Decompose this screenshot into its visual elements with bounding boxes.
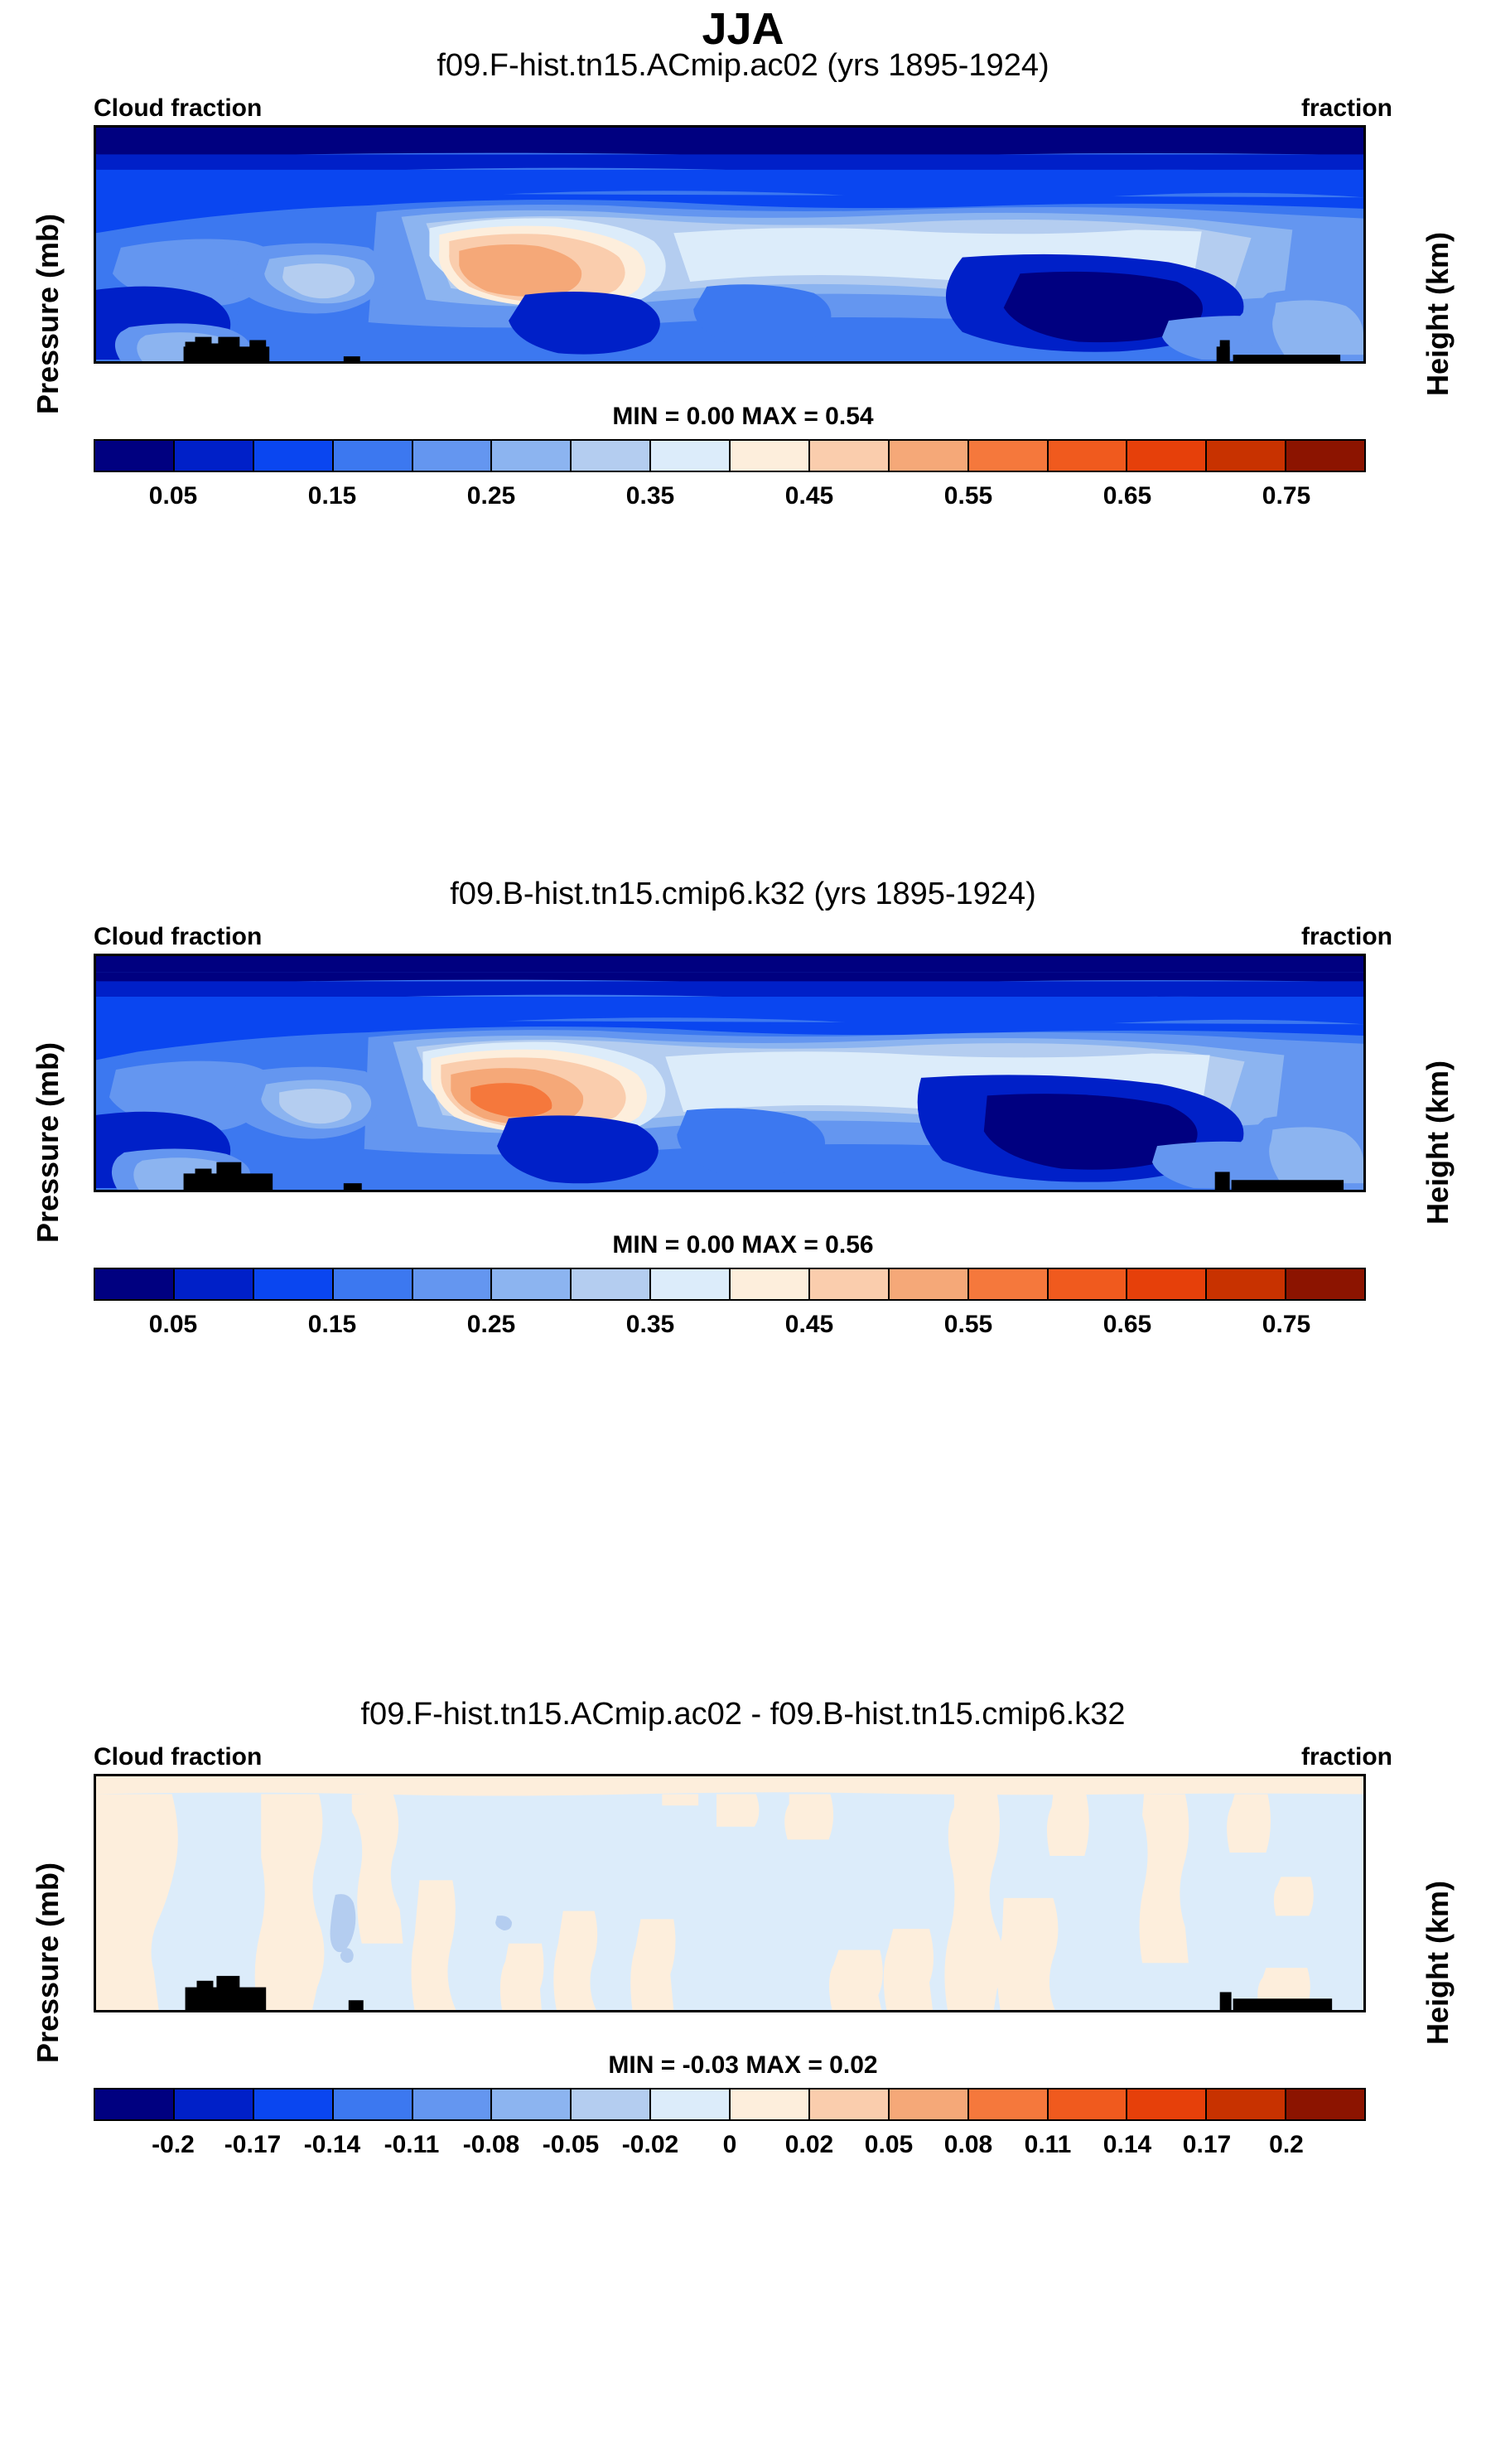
panel-2-cbar-label-1: 0.15 xyxy=(308,1311,356,1339)
cbar-cell-12[interactable] xyxy=(1049,1269,1128,1299)
panel-3-xtick-120 xyxy=(517,1774,519,1776)
cbar-cell-2[interactable] xyxy=(254,1269,334,1299)
panel-1-contour-field xyxy=(96,128,1363,361)
panel-3-ytick-70 xyxy=(94,1791,96,1795)
panel-2-ytick-200 xyxy=(94,1013,96,1017)
panel-2-xtick-0 xyxy=(95,954,98,956)
panel-3-xtick-60 xyxy=(306,1774,309,1776)
panel-1-xtick-300 xyxy=(1151,125,1153,128)
cbar-cell-4[interactable] xyxy=(413,2090,493,2119)
panel-2-cbar-label-4: 0.45 xyxy=(785,1311,833,1339)
panel-3-ytick-1000 xyxy=(94,2003,96,2006)
panel-1-xtick-b-0 xyxy=(95,361,98,364)
panel-2-ytick-1000 xyxy=(94,1182,96,1186)
cbar-cell-0[interactable] xyxy=(95,1269,175,1299)
panel-2-ytick-500 xyxy=(94,1080,96,1084)
panel-3-xtick-210 xyxy=(834,1774,837,1776)
panel-3-cbar-label-13: 0.17 xyxy=(1183,2131,1231,2159)
cbar-cell-3[interactable] xyxy=(334,1269,413,1299)
panel-1-xtick-30 xyxy=(200,125,203,128)
panel-1-ytick-50 xyxy=(94,135,96,138)
panel-2-cbar-label-0: 0.05 xyxy=(149,1311,197,1339)
cbar-cell-11[interactable] xyxy=(969,2090,1049,2119)
panel-1-xtick-330 xyxy=(1257,125,1259,128)
panel-3-xtick-30 xyxy=(200,1774,203,1776)
cbar-cell-8[interactable] xyxy=(731,2090,810,2119)
panel-3-cbar-label-4: -0.08 xyxy=(463,2131,519,2159)
panel-2-colorbar-strip[interactable] xyxy=(94,1268,1366,1301)
panel-3-ytick-200 xyxy=(94,1834,96,1837)
cbar-cell-15[interactable] xyxy=(1286,1269,1364,1299)
panel-3-ytick-500 xyxy=(94,1901,96,1904)
panel-2-xtick-240 xyxy=(940,954,943,956)
cbar-cell-7[interactable] xyxy=(651,1269,731,1299)
panel-3-header-left: Cloud fraction xyxy=(94,1743,262,1771)
cbar-cell-1[interactable] xyxy=(175,441,254,471)
panel-3-xtick-b-300 xyxy=(1151,2010,1153,2012)
panel-1-xtick-60 xyxy=(306,125,309,128)
cbar-cell-13[interactable] xyxy=(1127,1269,1207,1299)
panel-1-xtick-0 xyxy=(95,125,98,128)
cbar-cell-12[interactable] xyxy=(1049,2090,1128,2119)
panel-2-minmax: MIN = 0.00 MAX = 0.56 xyxy=(370,1231,1116,1259)
panel-3-title: f09.F-hist.tn15.ACmip.ac02 - f09.B-hist.… xyxy=(0,1697,1486,1732)
panel-2-ytick-150 xyxy=(94,999,96,1003)
cbar-cell-0[interactable] xyxy=(95,441,175,471)
panel-2-cbar-label-6: 0.65 xyxy=(1103,1311,1151,1339)
panel-2-cbar-label-7: 0.75 xyxy=(1262,1311,1310,1339)
cbar-cell-6[interactable] xyxy=(572,1269,651,1299)
panel-2-xtick-30 xyxy=(200,954,203,956)
panel-1-ytick-1000 xyxy=(94,354,96,357)
panel-3: f09.F-hist.tn15.ACmip.ac02 - f09.B-hist.… xyxy=(0,1697,1486,2464)
panel-2-cbar-label-3: 0.35 xyxy=(626,1311,674,1339)
cbar-cell-8[interactable] xyxy=(731,441,810,471)
panel-1-minmax: MIN = 0.00 MAX = 0.54 xyxy=(370,403,1116,431)
panel-3-ytick-850 xyxy=(94,1969,96,1972)
panel-3-colorbar-strip[interactable] xyxy=(94,2088,1366,2121)
panel-3-ytick-50 xyxy=(94,1784,96,1787)
panel-3-xtick-b-60 xyxy=(306,2010,309,2012)
panel-3-cbar-label-0: -0.2 xyxy=(152,2131,195,2159)
panel-1-y-axis-title: Pressure (mb) xyxy=(31,190,65,438)
panel-2-xtick-b-180 xyxy=(729,1190,731,1192)
panel-2-xtick-180 xyxy=(729,954,731,956)
panel-2-htick-8 xyxy=(1363,1056,1366,1060)
panel-3-xtick-b-240 xyxy=(940,2010,943,2012)
cbar-cell-14[interactable] xyxy=(1207,441,1286,471)
panel-1-xtick-270 xyxy=(1045,125,1048,128)
panel-2-xtick-210 xyxy=(834,954,837,956)
cbar-cell-10[interactable] xyxy=(890,2090,969,2119)
cbar-cell-6[interactable] xyxy=(572,2090,651,2119)
panel-2-xtick-b-120 xyxy=(517,1190,519,1192)
cbar-cell-5[interactable] xyxy=(492,441,572,471)
panel-1-ytick-150 xyxy=(94,171,96,174)
panel-3-xtick-b-120 xyxy=(517,2010,519,2012)
panel-3-colorbar[interactable]: -0.2 -0.17 -0.14 -0.11 -0.08 -0.05 -0.02… xyxy=(94,2088,1366,2167)
cbar-cell-9[interactable] xyxy=(810,2090,890,2119)
panel-2-ytick-850 xyxy=(94,1148,96,1152)
cbar-cell-13[interactable] xyxy=(1127,2090,1207,2119)
cbar-cell-7[interactable] xyxy=(651,2090,731,2119)
panel-3-ytick-150 xyxy=(94,1819,96,1823)
panel-1-cbar-label-3: 0.35 xyxy=(626,482,674,510)
panel-3-ytick-300 xyxy=(94,1858,96,1861)
panel-2-xtick-150 xyxy=(623,954,625,956)
panel-2-plot-area[interactable]: 30 50 70 100 150 200 250 300 400 500 700… xyxy=(94,954,1366,1192)
cbar-cell-3[interactable] xyxy=(334,2090,413,2119)
panel-2-ytick-700 xyxy=(94,1118,96,1121)
panel-3-cbar-label-9: 0.05 xyxy=(865,2131,913,2159)
cbar-cell-5[interactable] xyxy=(492,1269,572,1299)
panel-3-cbar-label-6: -0.02 xyxy=(622,2131,678,2159)
panel-1-ytick-100 xyxy=(94,154,96,157)
panel-1-xtick-180 xyxy=(729,125,731,128)
cbar-cell-8[interactable] xyxy=(731,1269,810,1299)
cbar-cell-12[interactable] xyxy=(1049,441,1128,471)
panel-2-xtick-b-0 xyxy=(95,1190,98,1192)
panel-3-minmax: MIN = -0.03 MAX = 0.02 xyxy=(370,2051,1116,2080)
cbar-cell-0[interactable] xyxy=(95,2090,175,2119)
panel-2-cbar-label-2: 0.25 xyxy=(467,1311,515,1339)
cbar-cell-15[interactable] xyxy=(1286,441,1364,471)
panel-3-ytick-400 xyxy=(94,1880,96,1883)
panel-1-ytick-200 xyxy=(94,185,96,188)
panel-2-ytick-400 xyxy=(94,1060,96,1063)
panel-3-xtick-240 xyxy=(940,1774,943,1776)
panel-1-ytick-30 xyxy=(94,127,96,130)
panel-3-xtick-300 xyxy=(1151,1774,1153,1776)
panel-3-right-axis-title: Height (km) xyxy=(1421,1838,1455,2087)
panel-3-xtick-330 xyxy=(1257,1774,1259,1776)
panel-1-htick-16 xyxy=(1363,151,1366,154)
panel-1-htick-20 xyxy=(1363,135,1366,138)
panel-1-cbar-label-1: 0.15 xyxy=(308,482,356,510)
panel-2-header-right: fraction xyxy=(1301,923,1392,951)
cbar-cell-11[interactable] xyxy=(969,441,1049,471)
panel-1-cbar-label-4: 0.45 xyxy=(785,482,833,510)
panel-2-ytick-100 xyxy=(94,983,96,986)
panel-3-plot-area[interactable]: 30 50 70 100 150 200 250 300 400 500 700… xyxy=(94,1774,1366,2012)
panel-1-cbar-label-6: 0.65 xyxy=(1103,482,1151,510)
panel-3-cbar-label-8: 0.02 xyxy=(785,2131,833,2159)
panel-2-cbar-label-5: 0.55 xyxy=(944,1311,992,1339)
panel-1-plot-area[interactable]: 30 50 70 100 150 200 250 300 400 500 700… xyxy=(94,125,1366,364)
panel-1-ytick-850 xyxy=(94,320,96,323)
cbar-cell-10[interactable] xyxy=(890,441,969,471)
panel-2-right-axis-title: Height (km) xyxy=(1421,1018,1455,1267)
panel-1-cbar-label-0: 0.05 xyxy=(149,482,197,510)
panel-1: f09.F-hist.tn15.ACmip.ac02 (yrs 1895-192… xyxy=(0,48,1486,868)
panel-2-htick-12 xyxy=(1363,1007,1366,1010)
panel-3-ytick-30 xyxy=(94,1776,96,1779)
panel-2-header-left: Cloud fraction xyxy=(94,923,262,951)
panel-1-colorbar-strip[interactable] xyxy=(94,439,1366,472)
panel-3-htick-16 xyxy=(1363,1800,1366,1803)
panel-1-ytick-300 xyxy=(94,209,96,212)
panel-3-cbar-label-12: 0.14 xyxy=(1103,2131,1151,2159)
panel-2-xtick-90 xyxy=(412,954,414,956)
panel-3-xtick-b-0 xyxy=(95,2010,98,2012)
panel-2-y-axis-title: Pressure (mb) xyxy=(31,1018,65,1267)
panel-1-xtick-b-180 xyxy=(729,361,731,364)
panel-1-xtick-150 xyxy=(623,125,625,128)
panel-3-y-axis-title: Pressure (mb) xyxy=(31,1838,65,2087)
cbar-cell-9[interactable] xyxy=(810,1269,890,1299)
figure-season-title: JJA xyxy=(0,3,1486,55)
panel-3-ytick-100 xyxy=(94,1803,96,1806)
cbar-cell-4[interactable] xyxy=(413,1269,493,1299)
panel-2-ytick-250 xyxy=(94,1026,96,1029)
panel-1-htick-12 xyxy=(1363,178,1366,181)
panel-1-ytick-500 xyxy=(94,252,96,255)
figure-canvas: JJA f09.F-hist.tn15.ACmip.ac02 (yrs 1895… xyxy=(0,0,1486,2464)
cbar-cell-10[interactable] xyxy=(890,1269,969,1299)
panel-2: f09.B-hist.tn15.cmip6.k32 (yrs 1895-1924… xyxy=(0,877,1486,1697)
panel-3-contour-field xyxy=(96,1776,1363,2010)
panel-1-xtick-b-240 xyxy=(940,361,943,364)
panel-3-cbar-label-3: -0.11 xyxy=(384,2131,440,2159)
panel-2-xtick-300 xyxy=(1151,954,1153,956)
panel-3-cbar-label-11: 0.11 xyxy=(1025,2131,1072,2159)
cbar-cell-7[interactable] xyxy=(651,441,731,471)
panel-3-xtick-90 xyxy=(412,1774,414,1776)
panel-3-xtick-150 xyxy=(623,1774,625,1776)
panel-1-htick-4 xyxy=(1363,289,1366,292)
panel-3-xtick-180 xyxy=(729,1774,731,1776)
cbar-cell-1[interactable] xyxy=(175,1269,254,1299)
panel-1-header-right: fraction xyxy=(1301,94,1392,123)
panel-3-xtick-0 xyxy=(95,1774,98,1776)
panel-3-htick-12 xyxy=(1363,1827,1366,1830)
panel-1-ytick-250 xyxy=(94,197,96,201)
cbar-cell-11[interactable] xyxy=(969,1269,1049,1299)
panel-3-htick-4 xyxy=(1363,1938,1366,1941)
cbar-cell-15[interactable] xyxy=(1286,2090,1364,2119)
panel-3-cbar-label-14: 0.2 xyxy=(1269,2131,1304,2159)
panel-3-header-right: fraction xyxy=(1301,1743,1392,1771)
panel-2-htick-16 xyxy=(1363,979,1366,983)
panel-3-xtick-270 xyxy=(1045,1774,1048,1776)
panel-2-ytick-300 xyxy=(94,1037,96,1041)
panel-2-xtick-b-240 xyxy=(940,1190,943,1192)
cbar-cell-1[interactable] xyxy=(175,2090,254,2119)
panel-2-xtick-b-300 xyxy=(1151,1190,1153,1192)
panel-1-header-left: Cloud fraction xyxy=(94,94,262,123)
cbar-cell-9[interactable] xyxy=(810,441,890,471)
panel-3-htick-8 xyxy=(1363,1877,1366,1880)
cbar-cell-2[interactable] xyxy=(254,2090,334,2119)
panel-1-xtick-b-300 xyxy=(1151,361,1153,364)
cbar-cell-2[interactable] xyxy=(254,441,334,471)
panel-1-xtick-b-60 xyxy=(306,361,309,364)
panel-1-cbar-label-7: 0.75 xyxy=(1262,482,1310,510)
panel-2-xtick-330 xyxy=(1257,954,1259,956)
panel-2-xtick-b-60 xyxy=(306,1190,309,1192)
cbar-cell-14[interactable] xyxy=(1207,2090,1286,2119)
cbar-cell-3[interactable] xyxy=(334,441,413,471)
panel-3-ytick-700 xyxy=(94,1938,96,1941)
panel-2-ytick-50 xyxy=(94,964,96,967)
cbar-cell-4[interactable] xyxy=(413,441,493,471)
panel-3-ytick-250 xyxy=(94,1846,96,1849)
panel-2-xtick-60 xyxy=(306,954,309,956)
panel-1-right-axis-title: Height (km) xyxy=(1421,190,1455,438)
panel-2-ytick-70 xyxy=(94,971,96,974)
panel-3-cbar-label-7: 0 xyxy=(723,2131,737,2159)
panel-3-cbar-label-1: -0.17 xyxy=(224,2131,281,2159)
panel-1-htick-8 xyxy=(1363,228,1366,231)
panel-1-xtick-90 xyxy=(412,125,414,128)
panel-3-cbar-label-10: 0.08 xyxy=(944,2131,992,2159)
panel-2-htick-20 xyxy=(1363,964,1366,967)
panel-1-cbar-label-2: 0.25 xyxy=(467,482,515,510)
cbar-cell-13[interactable] xyxy=(1127,441,1207,471)
panel-2-title: f09.B-hist.tn15.cmip6.k32 (yrs 1895-1924… xyxy=(0,877,1486,912)
cbar-cell-6[interactable] xyxy=(572,441,651,471)
panel-1-ytick-70 xyxy=(94,143,96,146)
panel-3-cbar-label-5: -0.05 xyxy=(543,2131,599,2159)
panel-2-xtick-270 xyxy=(1045,954,1048,956)
panel-1-ytick-700 xyxy=(94,289,96,292)
cbar-cell-14[interactable] xyxy=(1207,1269,1286,1299)
panel-2-ytick-30 xyxy=(94,955,96,959)
panel-2-contour-field xyxy=(96,956,1363,1190)
panel-1-xtick-b-120 xyxy=(517,361,519,364)
panel-1-xtick-210 xyxy=(834,125,837,128)
panel-2-colorbar[interactable]: 0.05 0.15 0.25 0.35 0.45 0.55 0.65 0.75 xyxy=(94,1268,1366,1346)
panel-1-colorbar[interactable]: 0.05 0.15 0.25 0.35 0.45 0.55 0.65 0.75 xyxy=(94,439,1366,518)
cbar-cell-5[interactable] xyxy=(492,2090,572,2119)
panel-2-htick-4 xyxy=(1363,1118,1366,1121)
panel-3-cbar-label-2: -0.14 xyxy=(304,2131,360,2159)
panel-1-ytick-400 xyxy=(94,231,96,234)
panel-3-htick-20 xyxy=(1363,1784,1366,1787)
panel-1-xtick-240 xyxy=(940,125,943,128)
panel-1-title: f09.F-hist.tn15.ACmip.ac02 (yrs 1895-192… xyxy=(0,48,1486,84)
panel-1-xtick-120 xyxy=(517,125,519,128)
panel-2-xtick-120 xyxy=(517,954,519,956)
panel-3-xtick-b-180 xyxy=(729,2010,731,2012)
panel-1-cbar-label-5: 0.55 xyxy=(944,482,992,510)
